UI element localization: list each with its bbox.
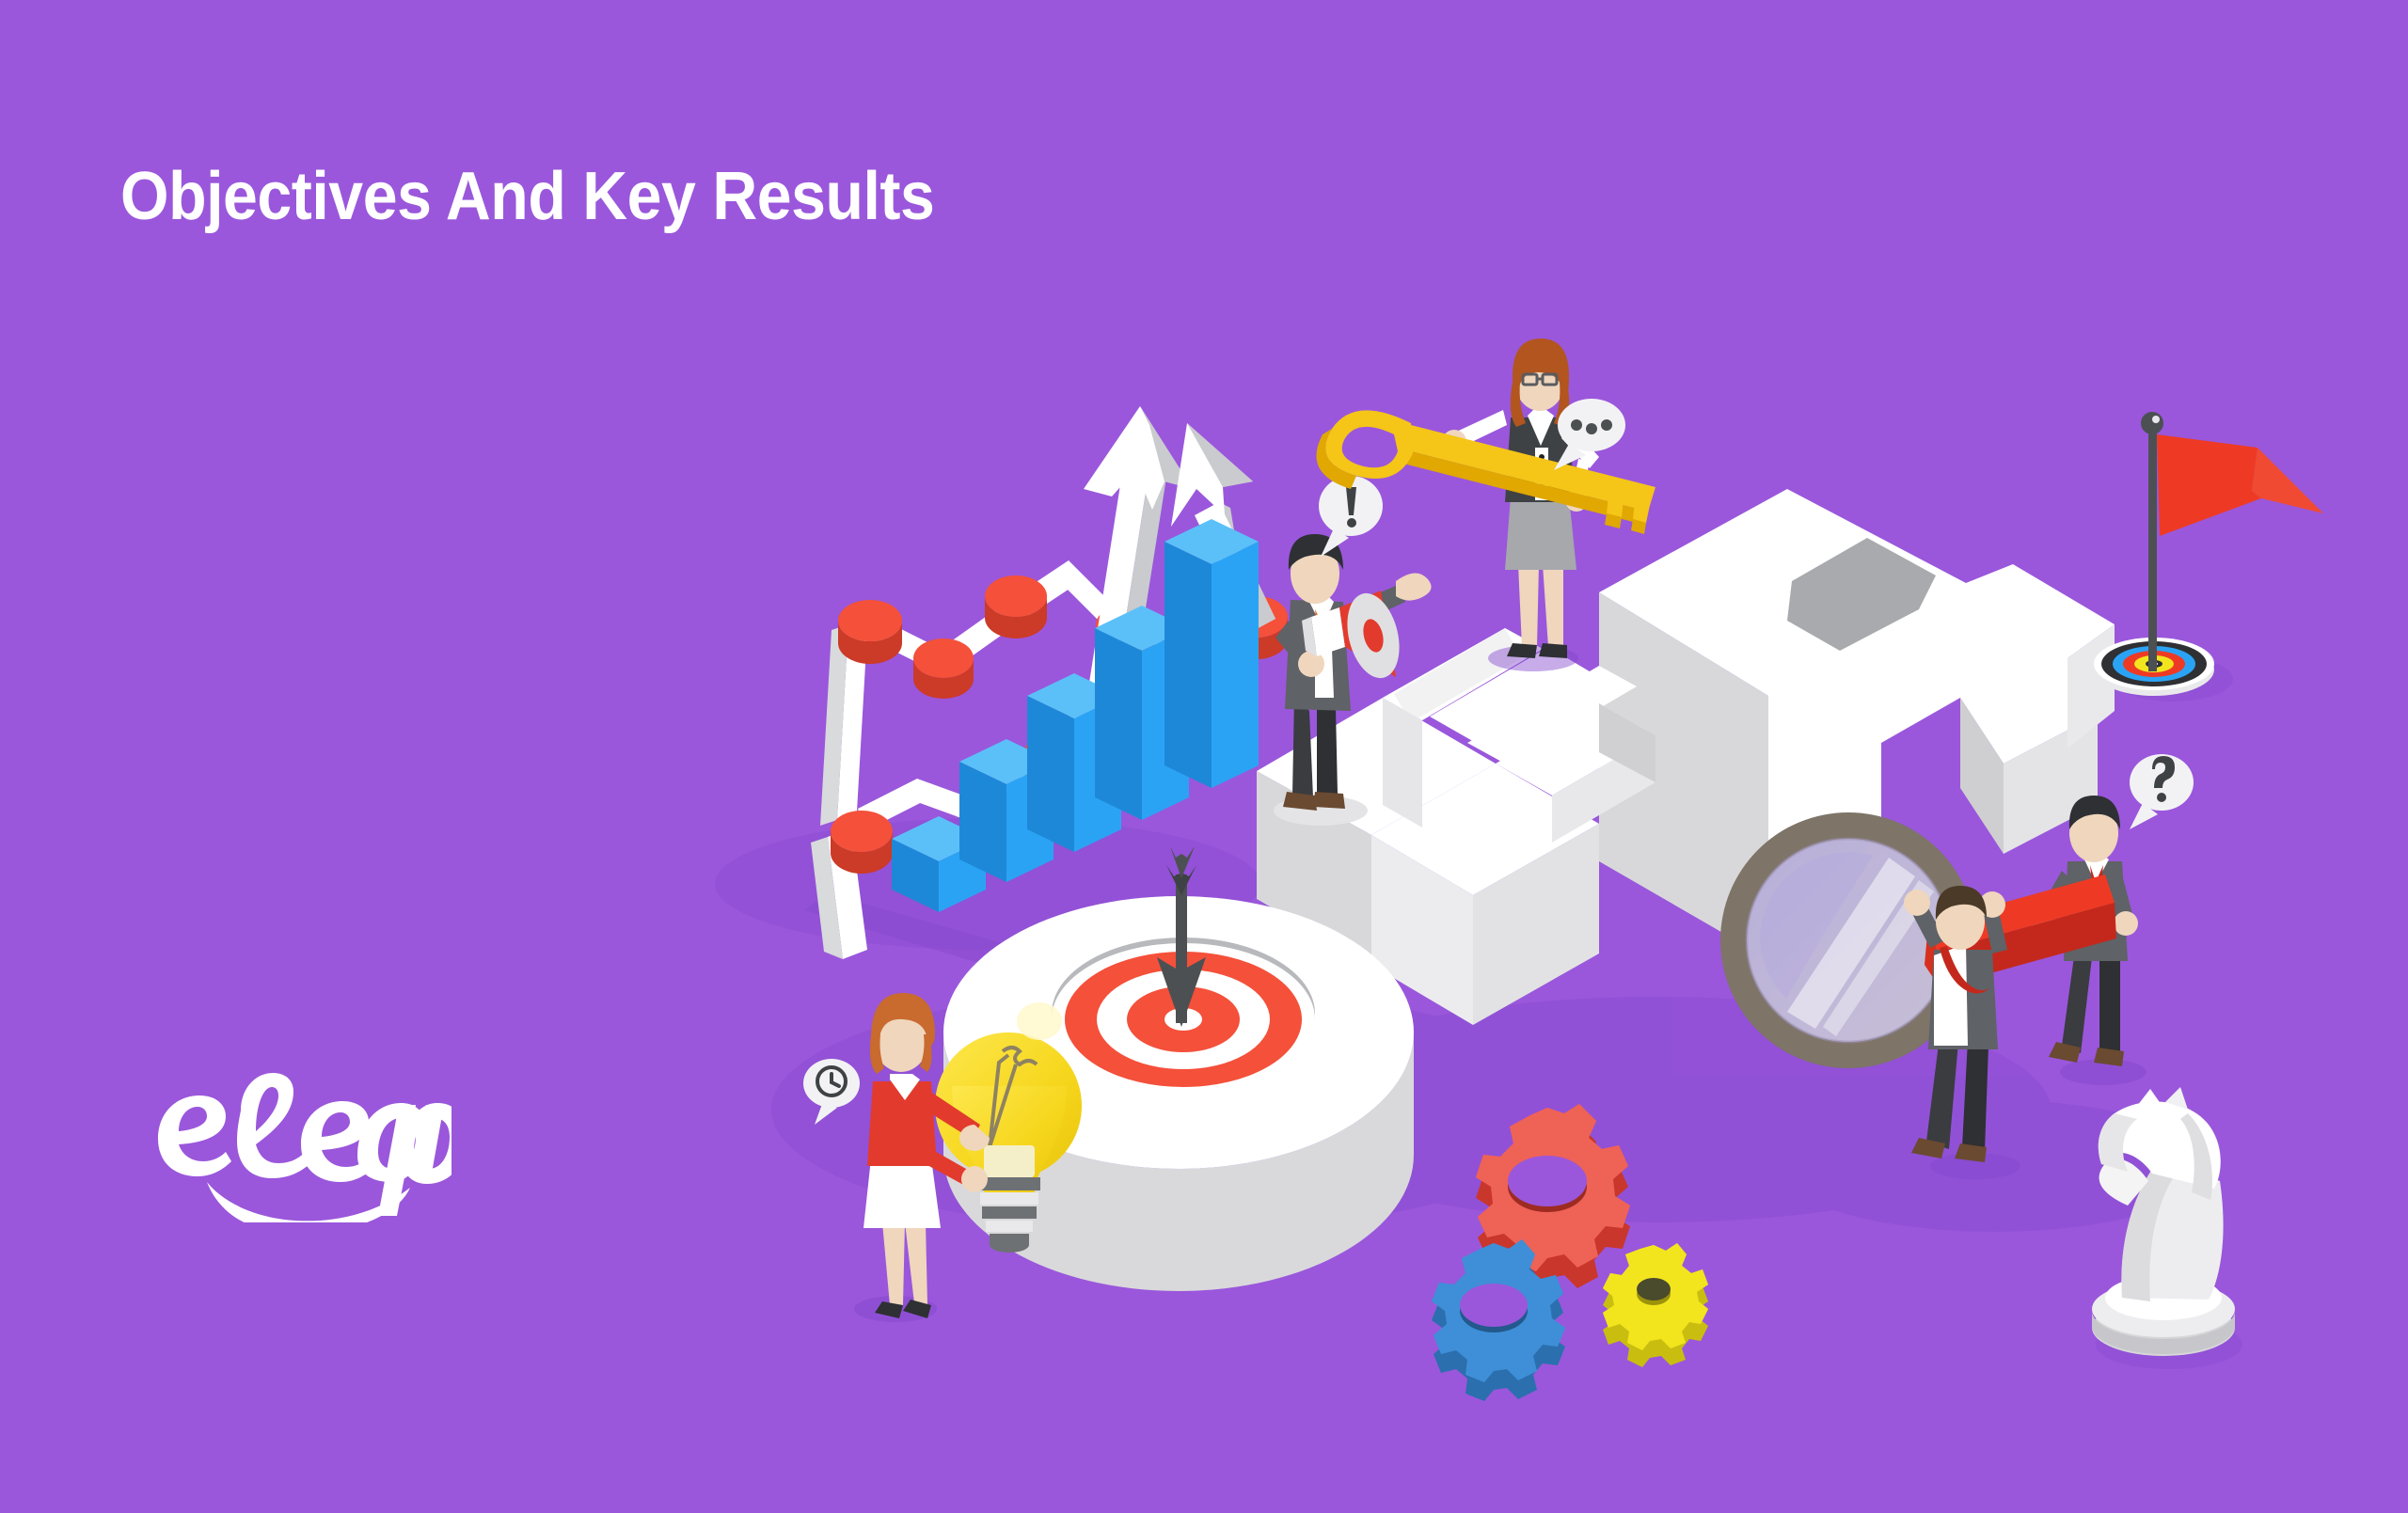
okr-illustration [0, 0, 2408, 1513]
chess-knight [2092, 1087, 2242, 1369]
bar-5 [1164, 519, 1259, 788]
question-bubble [2130, 754, 2194, 829]
brand-logo[interactable] [150, 1058, 451, 1222]
poster-canvas: Objectives And Key Results [0, 0, 2408, 1513]
red-flag-target [2094, 412, 2323, 701]
gear-yellow [1603, 1243, 1708, 1367]
